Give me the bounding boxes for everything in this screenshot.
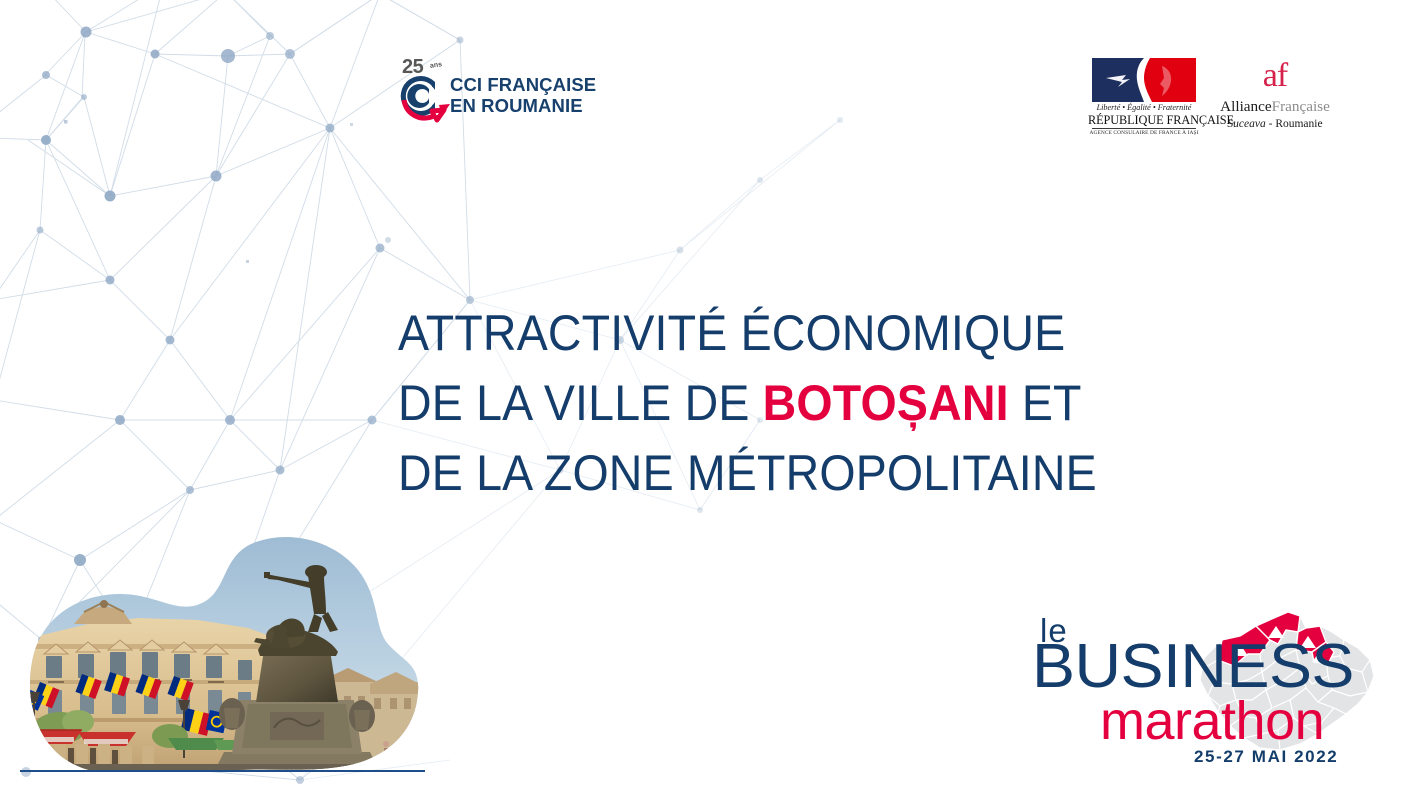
alliance-francaise-location: Suceava - Roumanie bbox=[1219, 118, 1331, 130]
cci-anniversary-number: 25 bbox=[402, 56, 423, 79]
logo-word-marathon: marathon bbox=[1100, 694, 1324, 748]
republique-divider bbox=[1092, 128, 1196, 129]
marianne-flag-icon bbox=[1092, 58, 1196, 102]
partner-logos-row: 25 ans CCI FRANÇAISE EN ROUMANIE Liberté… bbox=[0, 0, 1401, 160]
title-line-2: DE LA VILLE DE BOTOȘANI ET bbox=[398, 368, 1161, 438]
le-business-marathon-logo: le BUSINESS marathon 25-27 MAI 2022 bbox=[1024, 596, 1384, 776]
alliance-francaise-monogram-icon: af bbox=[1219, 58, 1331, 94]
alliance-word: Alliance bbox=[1220, 98, 1271, 115]
republique-francaise-title: RÉPUBLIQUE FRANÇAISE bbox=[1088, 113, 1200, 128]
title-line-2-suffix: ET bbox=[1009, 375, 1082, 431]
cci-francaise-en-roumanie-logo: 25 ans CCI FRANÇAISE EN ROUMANIE bbox=[392, 58, 572, 130]
cci-logo-line2: EN ROUMANIE bbox=[450, 95, 596, 116]
republique-francaise-logo: Liberté • Égalité • Fraternité RÉPUBLIQU… bbox=[1088, 58, 1200, 136]
title-line-1: ATTRACTIVITÉ ÉCONOMIQUE bbox=[398, 298, 1161, 368]
alliance-francaise-logo: af AllianceFrançaise Suceava - Roumanie bbox=[1219, 58, 1331, 136]
city-photograph bbox=[18, 532, 420, 772]
agence-consulaire-subtitle: AGENCE CONSULAIRE DE FRANCE À IAȘI bbox=[1088, 130, 1200, 136]
cci-logo-line1: CCI FRANÇAISE bbox=[450, 74, 596, 95]
slide-title: ATTRACTIVITÉ ÉCONOMIQUE DE LA VILLE DE B… bbox=[398, 298, 1218, 508]
title-line-3: DE LA ZONE MÉTROPOLITAINE bbox=[398, 438, 1161, 508]
alliance-country: Roumanie bbox=[1275, 118, 1322, 130]
title-line-2-prefix: DE LA VILLE DE bbox=[398, 375, 763, 431]
botosani-square-photo-illustration bbox=[18, 532, 420, 772]
photo-underline-rule bbox=[20, 770, 425, 772]
republique-devise: Liberté • Égalité • Fraternité bbox=[1088, 103, 1200, 112]
logo-word-business: BUSINESS bbox=[1032, 636, 1354, 698]
alliance-city: Suceava bbox=[1227, 118, 1265, 130]
alliance-francaise-name: AllianceFrançaise bbox=[1219, 98, 1331, 116]
francaise-word: Française bbox=[1272, 98, 1330, 115]
title-city-highlight: BOTOȘANI bbox=[763, 375, 1009, 431]
event-date-label: 25-27 MAI 2022 bbox=[1194, 748, 1338, 765]
alliance-separator: - bbox=[1266, 118, 1276, 130]
cci-logo-text: CCI FRANÇAISE EN ROUMANIE bbox=[450, 74, 596, 116]
presentation-slide: 25 ans CCI FRANÇAISE EN ROUMANIE Liberté… bbox=[0, 0, 1401, 801]
